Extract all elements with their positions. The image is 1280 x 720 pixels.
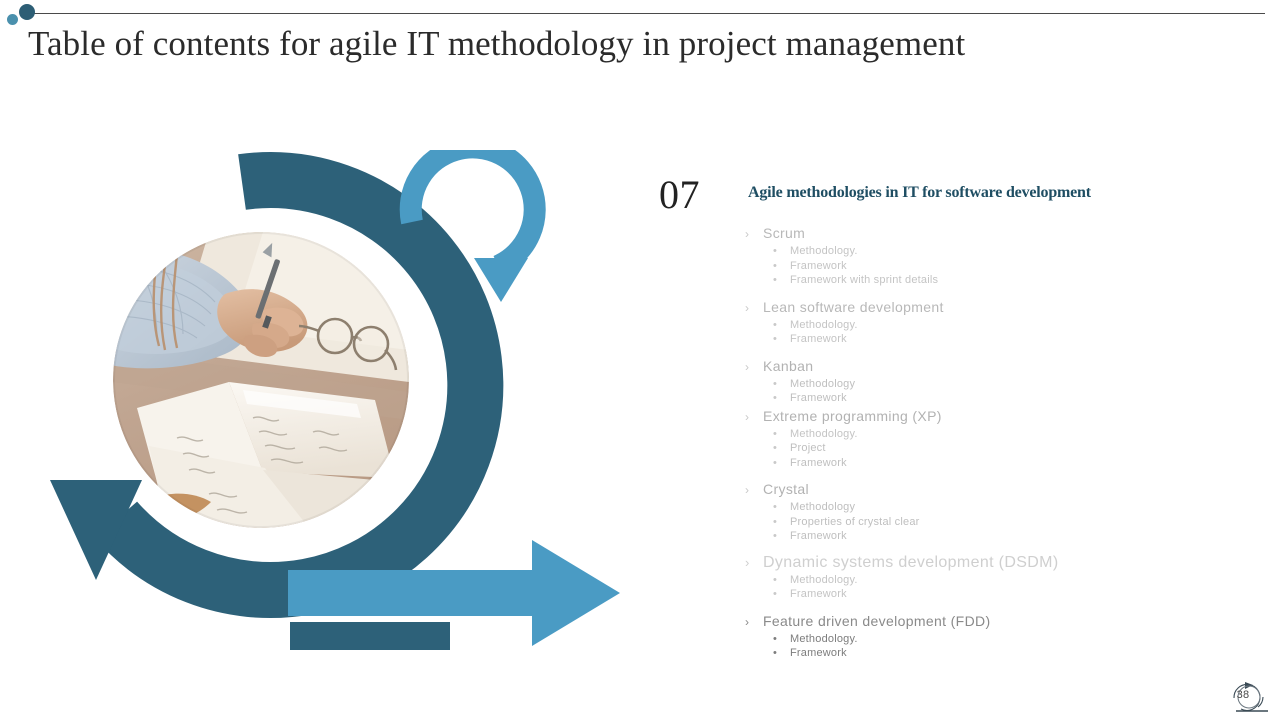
- toc-subitem-label: Methodology.: [790, 318, 858, 333]
- page-title: Table of contents for agile IT methodolo…: [28, 22, 965, 66]
- toc-subitem-label: Framework: [790, 529, 847, 544]
- toc-subitem-label: Methodology.: [790, 573, 858, 588]
- toc-subitem-label: Project: [790, 441, 826, 456]
- toc-item-extreme-programming[interactable]: › Extreme programming (XP): [745, 406, 1245, 427]
- toc-subitem[interactable]: • Framework: [745, 259, 1245, 274]
- bullet-icon: •: [773, 441, 790, 456]
- toc-subitem[interactable]: • Framework: [745, 391, 1245, 406]
- bullet-icon: •: [773, 573, 790, 588]
- toc-list: › Scrum • Methodology. • Framework • Fra…: [745, 223, 1245, 670]
- toc-group: › Kanban • Methodology • Framework: [745, 356, 1245, 406]
- section-number: 07: [659, 175, 700, 215]
- toc-subitem[interactable]: • Methodology.: [745, 244, 1245, 259]
- bullet-icon: •: [773, 500, 790, 515]
- toc-subitem[interactable]: • Framework: [745, 646, 1245, 661]
- bullet-icon: •: [773, 332, 790, 347]
- toc-subitem-label: Framework: [790, 587, 847, 602]
- bullet-icon: •: [773, 259, 790, 274]
- bullet-icon: •: [773, 632, 790, 647]
- toc-item-label: Lean software development: [763, 297, 944, 317]
- toc-item-label: Kanban: [763, 356, 813, 376]
- toc-group: › Scrum • Methodology. • Framework • Fra…: [745, 223, 1245, 288]
- toc-subitem-label: Framework: [790, 456, 847, 471]
- bullet-icon: •: [773, 318, 790, 333]
- toc-subitem[interactable]: • Methodology.: [745, 632, 1245, 647]
- header-dot-small-icon: [7, 14, 18, 25]
- toc-subitem-label: Properties of crystal clear: [790, 515, 920, 530]
- chevron-right-icon: ›: [745, 407, 763, 427]
- toc-subitem[interactable]: • Framework: [745, 529, 1245, 544]
- toc-subitem-label: Methodology.: [790, 632, 858, 647]
- bullet-icon: •: [773, 273, 790, 288]
- toc-subitem-label: Methodology.: [790, 427, 858, 442]
- toc-item-kanban[interactable]: › Kanban: [745, 356, 1245, 377]
- bullet-icon: •: [773, 427, 790, 442]
- chevron-right-icon: ›: [745, 224, 763, 244]
- header-dot-large-icon: [19, 4, 35, 20]
- toc-item-label: Feature driven development (FDD): [763, 611, 991, 631]
- toc-subitem-label: Methodology.: [790, 244, 858, 259]
- toc-item-label: Scrum: [763, 223, 805, 243]
- toc-item-label: Dynamic systems development (DSDM): [763, 553, 1059, 573]
- toc-item-label: Extreme programming (XP): [763, 406, 942, 426]
- chevron-right-icon: ›: [745, 298, 763, 318]
- toc-subitem[interactable]: • Project: [745, 441, 1245, 456]
- bullet-icon: •: [773, 646, 790, 661]
- toc-subitem[interactable]: • Methodology.: [745, 573, 1245, 588]
- toc-item-scrum[interactable]: › Scrum: [745, 223, 1245, 244]
- toc-subitem[interactable]: • Framework: [745, 456, 1245, 471]
- toc-subitem[interactable]: • Methodology.: [745, 427, 1245, 442]
- chevron-right-icon: ›: [745, 480, 763, 500]
- toc-subitem-label: Framework: [790, 646, 847, 661]
- toc-subitem-label: Framework with sprint details: [790, 273, 938, 288]
- toc-subitem[interactable]: • Framework: [745, 332, 1245, 347]
- toc-subitem-label: Framework: [790, 391, 847, 406]
- bullet-icon: •: [773, 244, 790, 259]
- section-heading: Agile methodologies in IT for software d…: [748, 183, 1091, 203]
- toc-item-label: Crystal: [763, 479, 809, 499]
- toc-subitem[interactable]: • Methodology.: [745, 318, 1245, 333]
- toc-item-dynamic-systems-development[interactable]: › Dynamic systems development (DSDM): [745, 553, 1245, 573]
- toc-subitem[interactable]: • Properties of crystal clear: [745, 515, 1245, 530]
- bullet-icon: •: [773, 587, 790, 602]
- bullet-icon: •: [773, 391, 790, 406]
- bullet-icon: •: [773, 456, 790, 471]
- toc-subitem-label: Framework: [790, 259, 847, 274]
- toc-group: › Extreme programming (XP) • Methodology…: [745, 406, 1245, 471]
- page-number-badge: 38: [1228, 680, 1270, 714]
- bullet-icon: •: [773, 515, 790, 530]
- toc-group: › Feature driven development (FDD) • Met…: [745, 611, 1245, 661]
- chevron-right-icon: ›: [745, 553, 763, 573]
- bullet-icon: •: [773, 377, 790, 392]
- toc-group: › Crystal • Methodology • Properties of …: [745, 479, 1245, 544]
- toc-subitem-label: Methodology: [790, 500, 855, 515]
- chevron-right-icon: ›: [745, 357, 763, 377]
- toc-subitem[interactable]: • Methodology: [745, 377, 1245, 392]
- page-number: 38: [1228, 680, 1258, 710]
- notebook-photo: [113, 232, 409, 528]
- toc-subitem[interactable]: • Framework: [745, 587, 1245, 602]
- toc-group: › Dynamic systems development (DSDM) • M…: [745, 553, 1245, 602]
- toc-item-feature-driven-development[interactable]: › Feature driven development (FDD): [745, 611, 1245, 632]
- bullet-icon: •: [773, 529, 790, 544]
- toc-subitem[interactable]: • Framework with sprint details: [745, 273, 1245, 288]
- toc-subitem-label: Methodology: [790, 377, 855, 392]
- toc-item-lean-software-development[interactable]: › Lean software development: [745, 297, 1245, 318]
- header-rule: [22, 13, 1265, 14]
- chevron-right-icon: ›: [745, 612, 763, 632]
- toc-subitem-label: Framework: [790, 332, 847, 347]
- toc-item-crystal[interactable]: › Crystal: [745, 479, 1245, 500]
- toc-subitem[interactable]: • Methodology: [745, 500, 1245, 515]
- toc-group: › Lean software development • Methodolog…: [745, 297, 1245, 347]
